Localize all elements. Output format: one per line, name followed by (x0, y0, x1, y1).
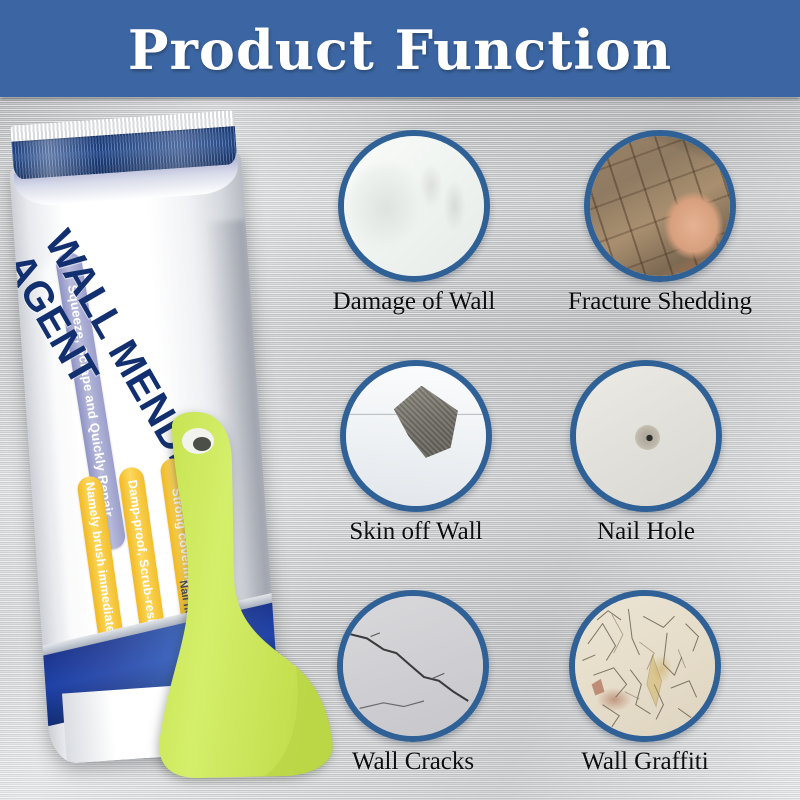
nail-hole-dot (635, 425, 660, 450)
feature-image-nail-hole (570, 360, 722, 512)
feature-cell-damage-of-wall[interactable]: Damage of Wall (324, 130, 504, 314)
feature-caption-nail-hole: Nail Hole (556, 519, 736, 544)
feature-cell-nail-hole[interactable]: Nail Hole (556, 360, 736, 544)
feature-cell-fracture-shedding[interactable]: Fracture Shedding (550, 130, 770, 314)
feature-caption-wall-graffiti: Wall Graffiti (550, 749, 740, 774)
header-banner: Product Function (0, 0, 800, 97)
feature-cell-wall-graffiti[interactable]: Wall Graffiti (550, 590, 740, 774)
product-function-poster: Product Function Squeeze, Scrape and Qui… (0, 0, 800, 800)
wall-graffiti-scribbles (575, 596, 715, 736)
fracture-shedding-art (590, 136, 730, 276)
page-title: Product Function (128, 23, 672, 77)
feature-caption-damage-of-wall: Damage of Wall (324, 289, 504, 314)
damage-of-wall-art (344, 136, 484, 276)
green-scraper-tool (136, 408, 366, 780)
feature-caption-fracture-shedding: Fracture Shedding (550, 289, 770, 314)
feature-image-wall-graffiti (569, 590, 721, 742)
feature-image-damage-of-wall (338, 130, 490, 282)
scraper-hang-hole-inner (193, 437, 211, 451)
feature-image-fracture-shedding (584, 130, 736, 282)
